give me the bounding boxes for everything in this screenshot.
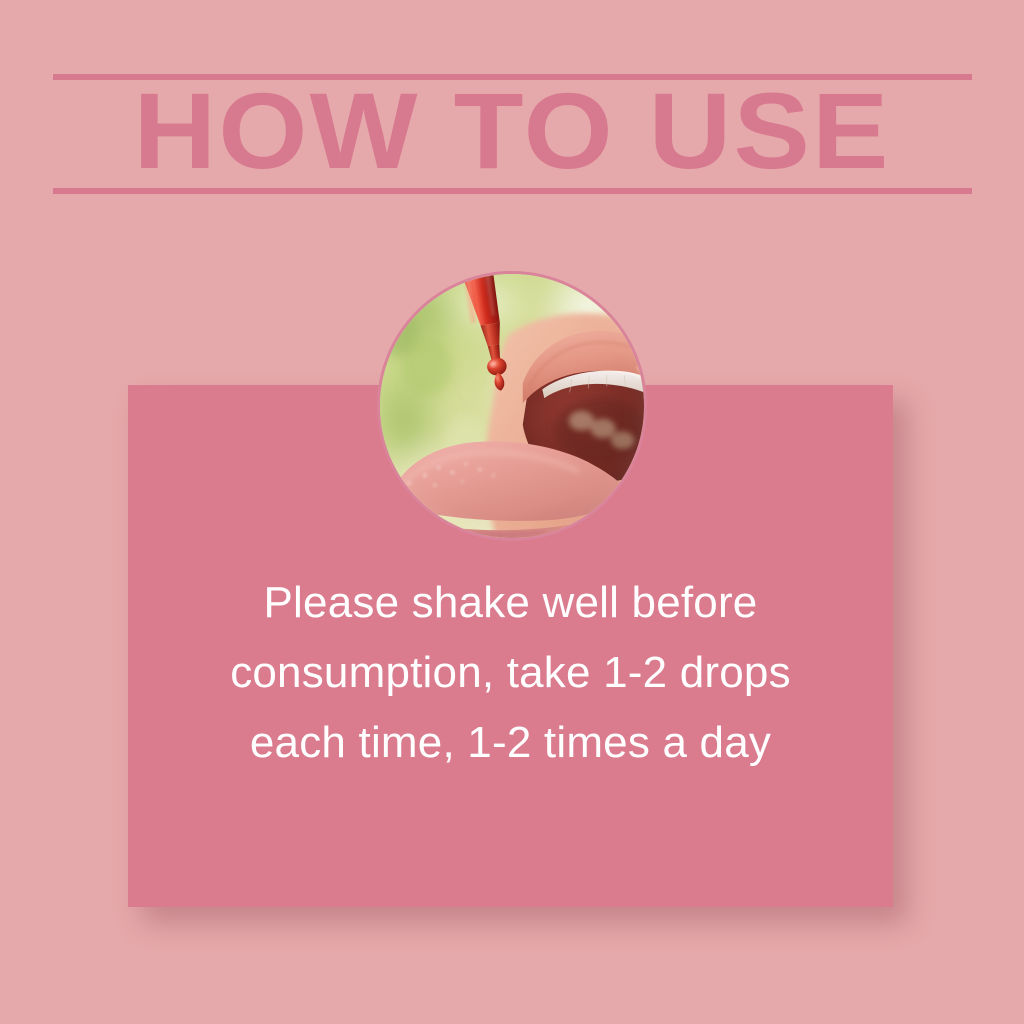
photo-illustration <box>380 274 644 538</box>
instruction-line-2: consumption, take 1-2 drops <box>128 638 893 708</box>
title-rule-bottom <box>53 188 972 194</box>
how-to-use-poster: HOW TO USE Please shake well before cons… <box>0 0 1024 1024</box>
instruction-line-3: each time, 1-2 times a day <box>128 708 893 778</box>
instruction-line-1: Please shake well before <box>128 568 893 638</box>
page-title: HOW TO USE <box>0 79 1024 183</box>
dropper-into-mouth-photo <box>377 271 647 541</box>
instruction-text: Please shake well before consumption, ta… <box>128 568 893 778</box>
